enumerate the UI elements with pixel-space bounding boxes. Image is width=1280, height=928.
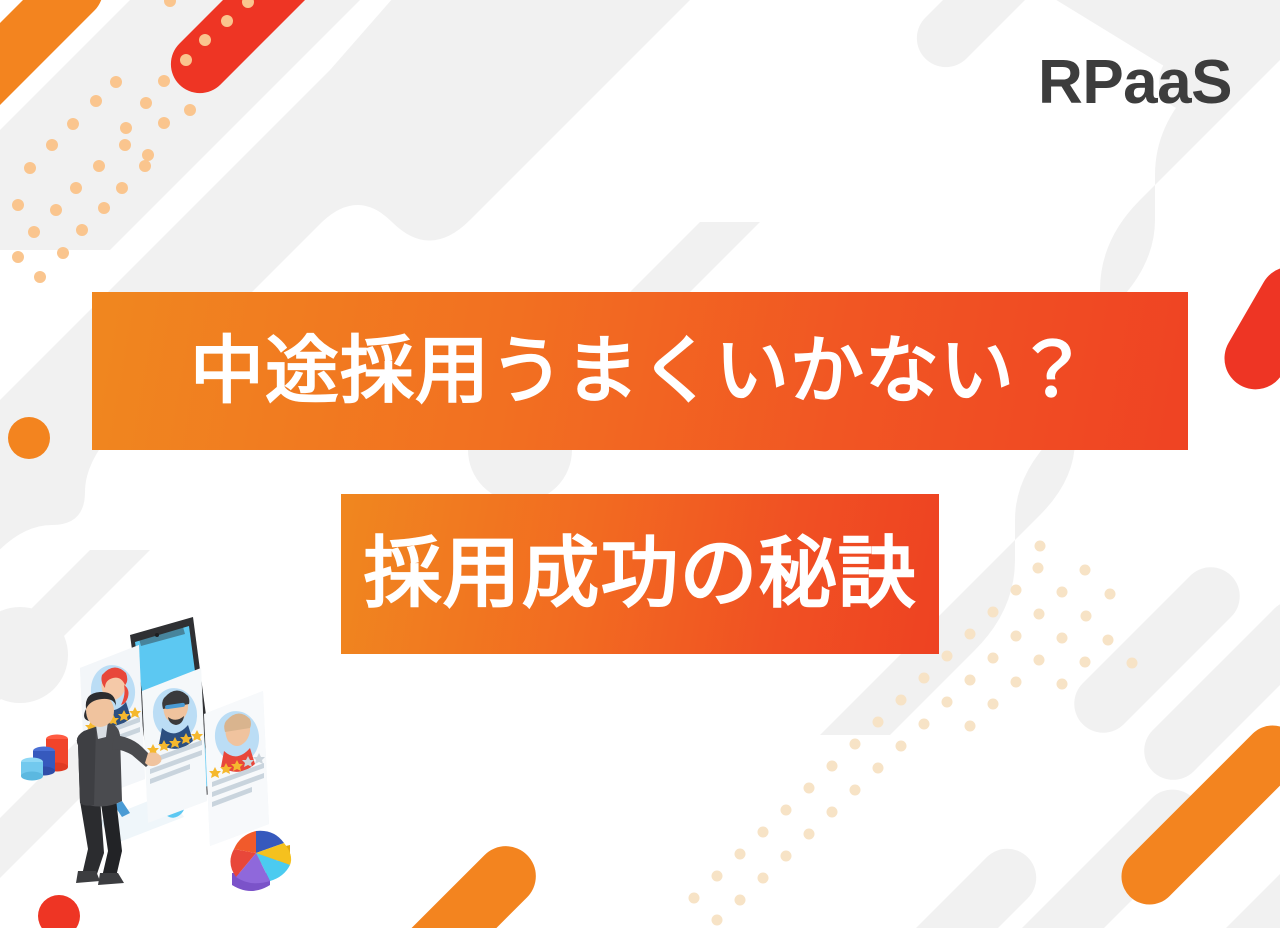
- orange-bar-right-lower: [1110, 714, 1280, 916]
- gray-stepped-band-left: [0, 0, 760, 560]
- recruitment-isometric-illustration: [18, 605, 298, 905]
- poster-canvas: RPaaS 中途採用うまくいかない？ 採用成功の秘訣: [0, 0, 1280, 928]
- gray-bars-right-lower: [1132, 588, 1280, 928]
- headline-banner-secondary: 採用成功の秘訣: [341, 494, 939, 654]
- dot-cluster-top-left: [12, 0, 254, 283]
- bar-chart-icon: [21, 735, 68, 781]
- pie-chart-icon: [230, 831, 291, 891]
- headline-primary-text: 中途採用うまくいかない？: [190, 334, 1090, 408]
- gray-band-upper-left: [0, 0, 560, 250]
- brand-logo: RPaaS: [1038, 52, 1232, 114]
- red-lozenge-right-edge: [1213, 255, 1280, 400]
- gray-bars-bottom-center: [866, 778, 1214, 928]
- candidate-card-3: [204, 691, 269, 846]
- headline-secondary-text: 採用成功の秘訣: [363, 535, 916, 613]
- orange-circle-left: [8, 417, 50, 459]
- orange-bar-bottom-center: [375, 834, 548, 928]
- orange-bar-top-left: [0, 0, 115, 181]
- candidate-card-2: [142, 668, 207, 823]
- red-bar-top-left: [159, 0, 419, 105]
- gray-bar-mid-right: [1062, 555, 1252, 745]
- gray-bar-top-center: [393, 0, 578, 103]
- headline-banner-primary: 中途採用うまくいかない？: [92, 292, 1188, 450]
